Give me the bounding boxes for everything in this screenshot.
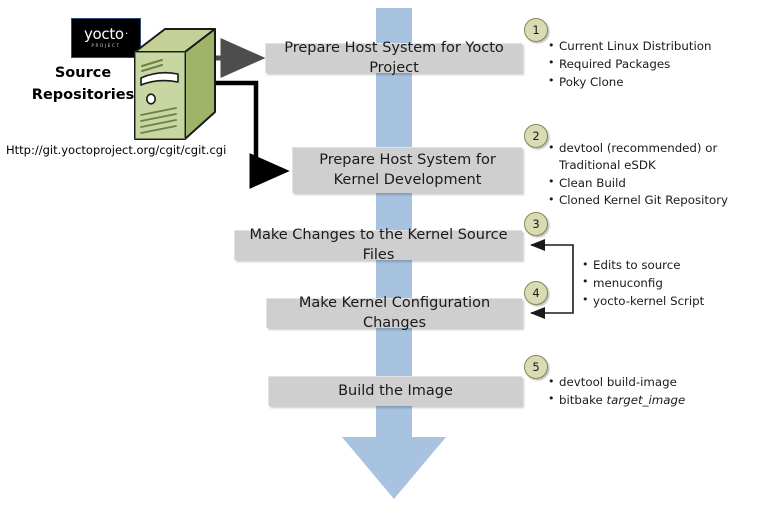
arrowhead-step4 — [530, 307, 545, 319]
list-item: Poky Clone — [548, 74, 758, 91]
bullet-text: devtool build-image — [559, 375, 677, 389]
step-number-3: 3 — [524, 212, 548, 236]
list-item: devtool build-image — [548, 374, 748, 391]
step-number-1: 1 — [524, 18, 548, 42]
bullet-text: Poky Clone — [559, 75, 624, 89]
process-box-step-2[interactable]: Prepare Host System for Kernel Developme… — [292, 147, 522, 193]
bullet-text: Required Packages — [559, 57, 670, 71]
list-item: Edits to source — [582, 257, 762, 274]
bullet-list-step-2: devtool (recommended) orTraditional eSDK… — [548, 140, 760, 210]
bullet-text: Edits to source — [593, 258, 681, 272]
diagram-canvas: yocto· PROJECT Source Repositories Http:… — [0, 0, 769, 517]
process-box-step-5[interactable]: Build the Image — [268, 376, 522, 406]
main-flow-arrow-head — [342, 437, 446, 499]
bullet-text: Cloned Kernel Git Repository — [559, 193, 728, 207]
logo-wordmark-text: yocto — [84, 25, 124, 43]
logo-subtitle: PROJECT — [91, 44, 120, 48]
bullet-text: menuconfig — [593, 276, 663, 290]
bullet-text-continuation: Traditional eSDK — [559, 157, 760, 174]
process-box-step-4[interactable]: Make Kernel Configuration Changes — [266, 298, 522, 328]
server-tower-icon — [132, 26, 218, 142]
bullet-text: bitbake — [559, 393, 607, 407]
yocto-project-logo: yocto· PROJECT — [71, 18, 141, 58]
connector-server-to-step2 — [216, 83, 283, 171]
step-number-2: 2 — [524, 124, 548, 148]
bullet-text: Current Linux Distribution — [559, 39, 711, 53]
step-number-5: 5 — [524, 355, 548, 379]
list-item: Clean Build — [548, 175, 760, 192]
bullet-text-italic: target_image — [607, 393, 686, 407]
bullet-list-step-5: devtool build-image bitbake target_image — [548, 374, 748, 410]
source-repositories-label: Source Repositories — [18, 62, 148, 107]
bullet-text: Clean Build — [559, 176, 626, 190]
list-item: Cloned Kernel Git Repository — [548, 192, 760, 209]
arrowhead-step3 — [530, 239, 545, 251]
source-repository-url: Http://git.yoctoproject.org/cgit/cgit.cg… — [6, 143, 226, 157]
logo-dot: · — [125, 27, 128, 40]
list-item: yocto-kernel Script — [582, 293, 762, 310]
list-item: bitbake target_image — [548, 392, 748, 409]
source-label-line2: Repositories — [18, 84, 148, 106]
logo-wordmark: yocto· — [84, 27, 128, 42]
list-item: Current Linux Distribution — [548, 38, 758, 55]
process-box-step-1[interactable]: Prepare Host System for Yocto Project — [265, 43, 522, 73]
bullet-list-step-1: Current Linux Distribution Required Pack… — [548, 38, 758, 91]
source-label-line1: Source — [18, 62, 148, 84]
step-number-4: 4 — [524, 281, 548, 305]
list-item: Required Packages — [548, 56, 758, 73]
process-box-step-3[interactable]: Make Changes to the Kernel Source Files — [234, 230, 522, 260]
bullet-text: devtool (recommended) or — [559, 141, 717, 155]
list-item: devtool (recommended) orTraditional eSDK — [548, 140, 760, 174]
bullet-text: yocto-kernel Script — [593, 294, 704, 308]
list-item: menuconfig — [582, 275, 762, 292]
bullet-list-steps-3-and-4: Edits to source menuconfig yocto-kernel … — [582, 257, 762, 310]
